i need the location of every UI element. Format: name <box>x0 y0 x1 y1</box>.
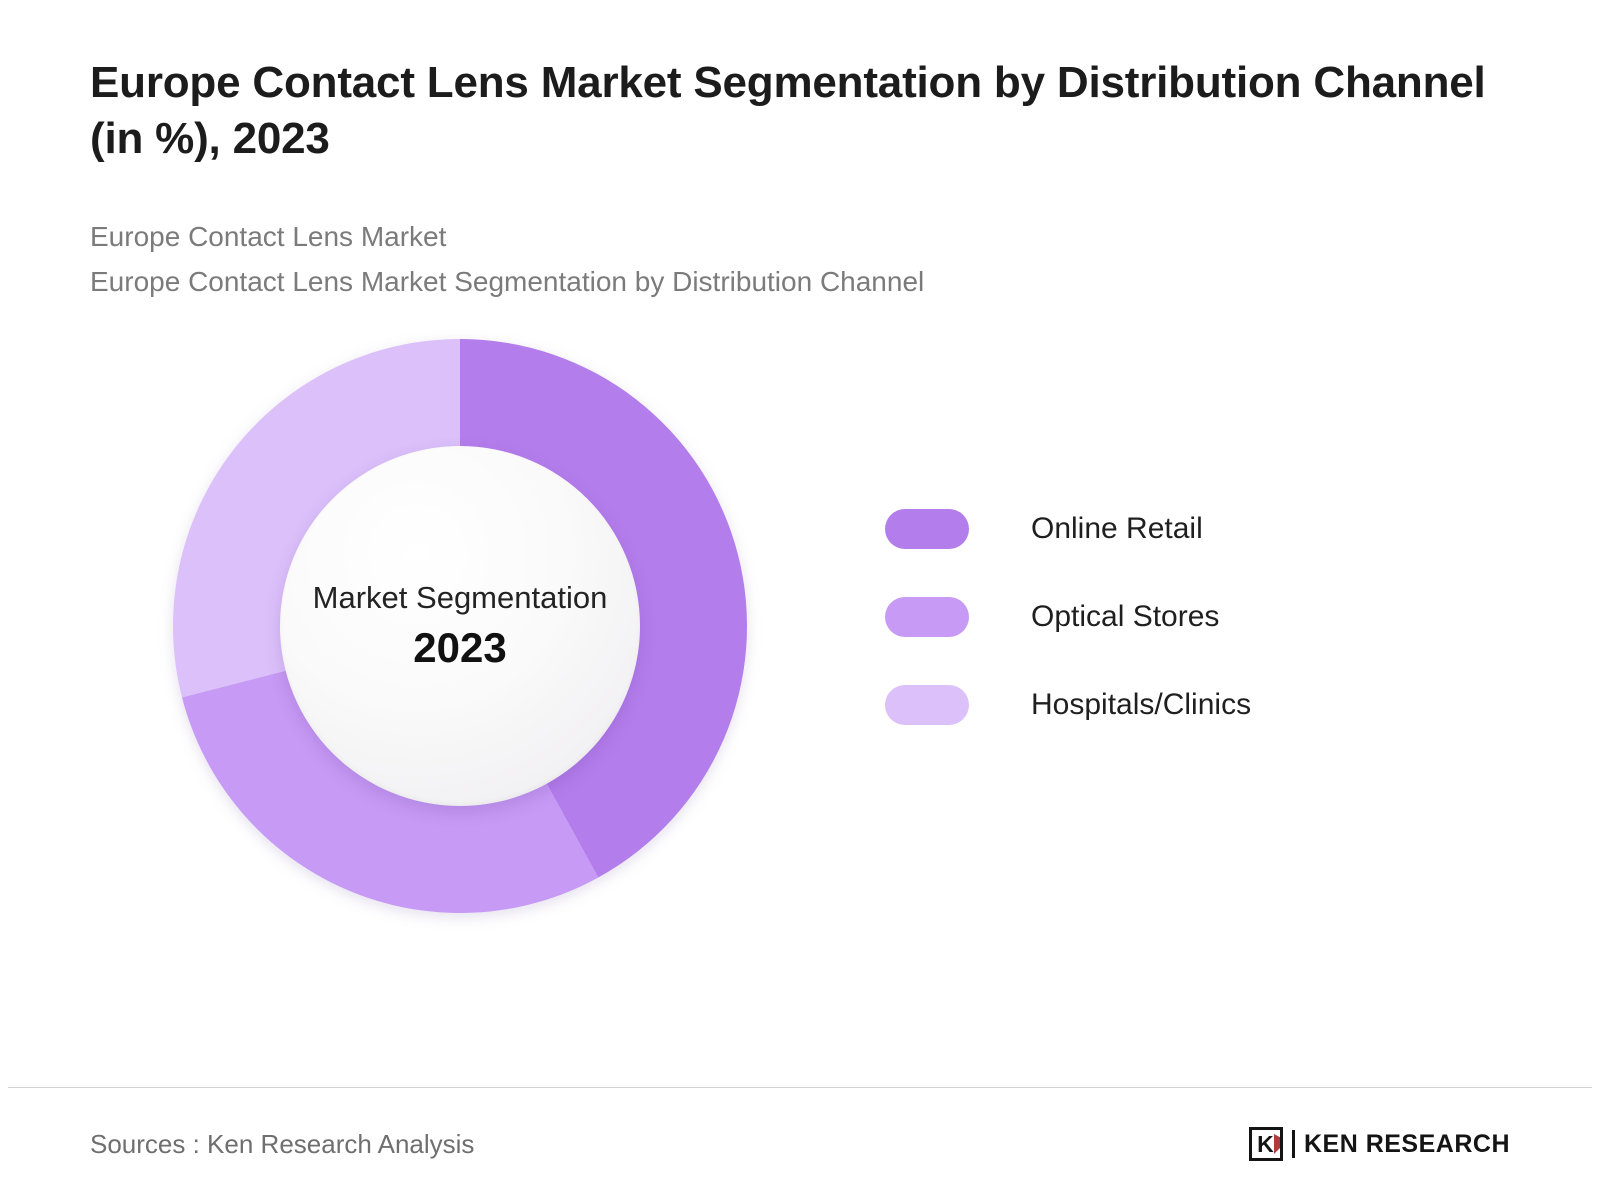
page-title: Europe Contact Lens Market Segmentation … <box>90 55 1510 168</box>
chart-legend: Online Retail Optical Stores Hospitals/C… <box>885 509 1251 725</box>
legend-item-optical-stores[interactable]: Optical Stores <box>885 597 1251 637</box>
donut-center-hole: Market Segmentation 2023 <box>280 446 640 806</box>
legend-swatch-icon <box>885 509 969 549</box>
chart-page: Europe Contact Lens Market Segmentation … <box>0 0 1600 1200</box>
chart-header: Europe Contact Lens Market Segmentation … <box>0 0 1600 304</box>
source-text: Sources : Ken Research Analysis <box>90 1129 474 1160</box>
donut-center-label: Market Segmentation <box>313 579 608 616</box>
brand-divider <box>1292 1130 1295 1158</box>
legend-item-online-retail[interactable]: Online Retail <box>885 509 1251 549</box>
brand-name: KEN RESEARCH <box>1304 1130 1510 1159</box>
subtitle-line-market: Europe Contact Lens Market <box>90 214 1510 259</box>
legend-label: Online Retail <box>1031 512 1203 546</box>
brand-letter: K <box>1257 1133 1274 1156</box>
donut-chart: Market Segmentation 2023 <box>160 326 760 926</box>
donut-center-value: 2023 <box>413 622 506 675</box>
chart-body: Market Segmentation 2023 Online Retail O… <box>0 304 1600 1087</box>
legend-swatch-icon <box>885 685 969 725</box>
chart-footer: Sources : Ken Research Analysis K KEN RE… <box>8 1087 1592 1200</box>
subtitle-line-segmentation: Europe Contact Lens Market Segmentation … <box>90 259 1510 304</box>
legend-swatch-icon <box>885 597 969 637</box>
legend-label: Optical Stores <box>1031 600 1219 634</box>
ken-research-mark-icon: K <box>1249 1127 1283 1161</box>
subtitle-block: Europe Contact Lens Market Europe Contac… <box>90 214 1510 305</box>
legend-item-hospitals-clinics[interactable]: Hospitals/Clinics <box>885 685 1251 725</box>
ken-research-logo: K KEN RESEARCH <box>1249 1127 1510 1161</box>
legend-label: Hospitals/Clinics <box>1031 688 1251 722</box>
